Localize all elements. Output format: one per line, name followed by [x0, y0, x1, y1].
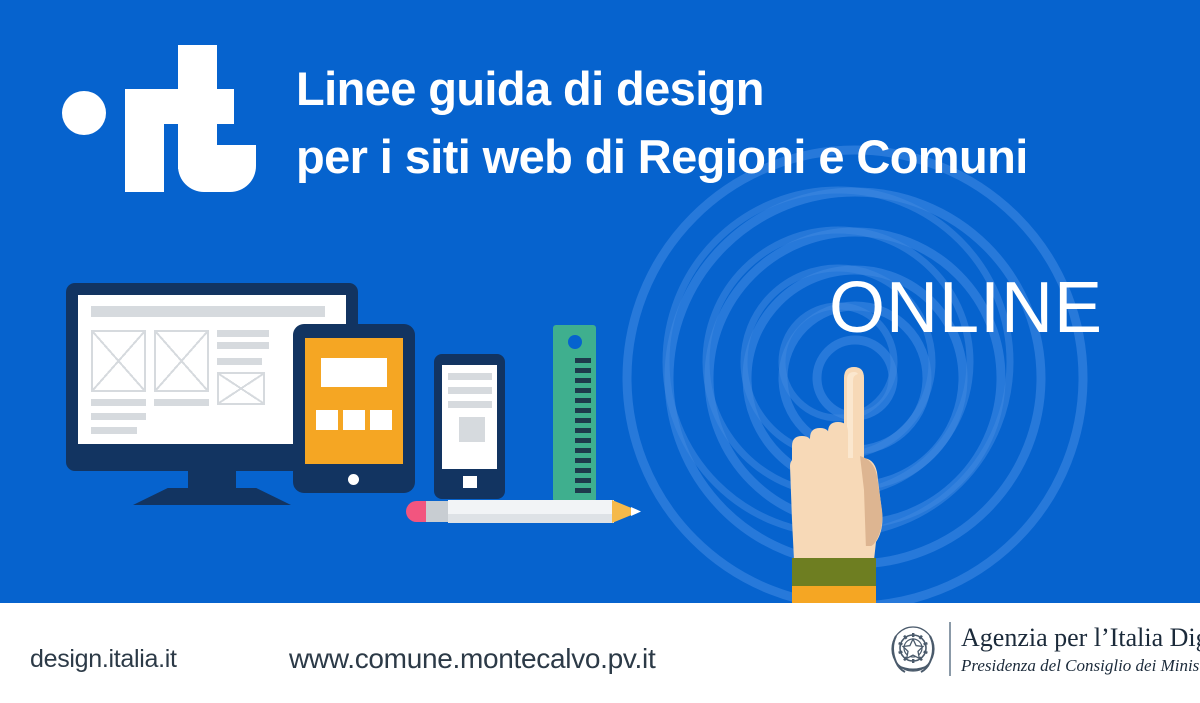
tablet-button-block — [370, 410, 392, 430]
wireframe-header-bar — [91, 306, 325, 317]
sleeve — [792, 586, 876, 603]
status-badge-online: ONLINE — [829, 272, 1103, 344]
ruler-tick — [575, 398, 591, 403]
ruler-tick — [575, 378, 591, 383]
agid-divider — [949, 622, 951, 676]
wireframe-image-box — [217, 372, 265, 405]
ruler-tick — [575, 368, 591, 373]
tablet-device — [293, 324, 415, 493]
footer-url-comune[interactable]: www.comune.montecalvo.pv.it — [289, 643, 655, 675]
tablet-button-block — [316, 410, 338, 430]
phone-image-block — [459, 417, 485, 442]
wireframe-text-bar — [91, 413, 146, 420]
wireframe-image-box — [154, 330, 209, 392]
agid-title: Agenzia per l’Italia Digitale — [961, 623, 1200, 653]
poster-canvas: Linee guida di design per i siti web di … — [0, 0, 1200, 703]
ruler-hole — [568, 335, 582, 349]
monitor-stand-neck — [188, 466, 236, 491]
ruler-tick — [575, 418, 591, 423]
pencil — [406, 498, 641, 524]
tablet-hero-block — [321, 358, 387, 387]
pencil-body-shadow — [448, 514, 614, 523]
wireframe-text-bar — [217, 358, 262, 365]
wireframe-text-bar — [217, 330, 269, 337]
phone-home-button — [463, 476, 477, 488]
phone-screen — [442, 365, 497, 469]
agid-logo: Agenzia per l’Italia Digitale Presidenza… — [886, 618, 1174, 680]
ruler-tick — [575, 388, 591, 393]
italian-republic-emblem-icon — [886, 622, 940, 676]
phone-text-bar — [448, 373, 492, 380]
ruler-tick — [575, 468, 591, 473]
agid-subtitle: Presidenza del Consiglio dei Ministri — [961, 656, 1200, 676]
device-illustration-group — [0, 0, 700, 603]
ruler-tick — [575, 408, 591, 413]
pencil-eraser — [406, 501, 428, 522]
phone-text-bar — [448, 401, 492, 408]
monitor-stand-base — [133, 488, 291, 505]
wireframe-text-bar — [217, 342, 269, 349]
phone-text-bar — [448, 387, 492, 394]
pencil-ferrule — [426, 501, 448, 522]
ruler-tick — [575, 358, 591, 363]
smartphone-device — [434, 354, 505, 499]
ruler-tick — [575, 428, 591, 433]
tablet-home-button — [348, 474, 359, 485]
wireframe-text-bar — [91, 427, 137, 434]
wireframe-text-bar — [91, 399, 146, 406]
pencil-point — [631, 507, 641, 516]
ruler-tick — [575, 478, 591, 483]
ruler-tick — [575, 438, 591, 443]
ruler-tick — [575, 488, 591, 493]
tablet-screen — [305, 338, 403, 464]
ruler-tick — [575, 448, 591, 453]
emblem-ribbon — [898, 666, 928, 670]
pointing-hand — [770, 360, 910, 603]
wireframe-image-box — [91, 330, 146, 392]
ruler-tick — [575, 458, 591, 463]
tablet-button-block — [343, 410, 365, 430]
wireframe-text-bar — [154, 399, 209, 406]
footer-url-design-italia[interactable]: design.italia.it — [30, 645, 177, 674]
sleeve-cuff — [792, 558, 876, 588]
ruler — [553, 325, 596, 502]
